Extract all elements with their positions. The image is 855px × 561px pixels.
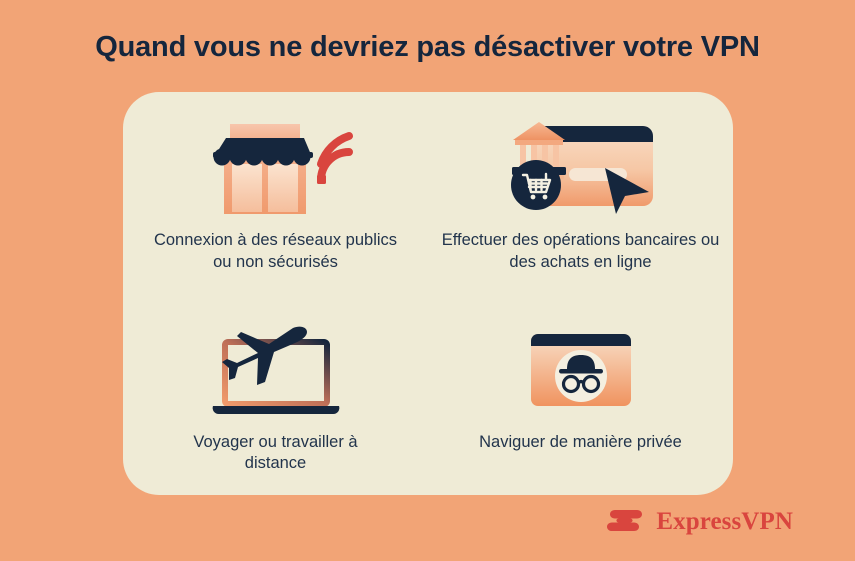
bank-card-shopping-icon (501, 114, 661, 222)
list-item-label: Effectuer des opérations bancaires ou de… (428, 230, 733, 274)
brand-logo: ExpressVPN (607, 505, 793, 539)
list-item: Naviguer de manière privée (428, 294, 733, 496)
incognito-browser-icon (526, 316, 636, 424)
list-item-label: Voyager ou travailler à distance (161, 432, 391, 476)
list-item-label: Connexion à des réseaux publics ou non s… (151, 230, 401, 274)
airplane-laptop-icon (201, 316, 351, 424)
content-card: Connexion à des réseaux publics ou non s… (123, 92, 733, 495)
expressvpn-logo-icon (607, 505, 647, 539)
list-item: Effectuer des opérations bancaires ou de… (428, 92, 733, 294)
public-wifi-storefront-icon (192, 114, 360, 222)
page-title: Quand vous ne devriez pas désactiver vot… (0, 30, 855, 65)
list-item-label: Naviguer de manière privée (479, 432, 682, 454)
brand-name: ExpressVPN (656, 508, 793, 536)
list-item: Voyager ou travailler à distance (123, 294, 428, 496)
infographic-poster: Quand vous ne devriez pas désactiver vot… (0, 0, 855, 561)
items-grid: Connexion à des réseaux publics ou non s… (123, 92, 733, 495)
list-item: Connexion à des réseaux publics ou non s… (123, 92, 428, 294)
